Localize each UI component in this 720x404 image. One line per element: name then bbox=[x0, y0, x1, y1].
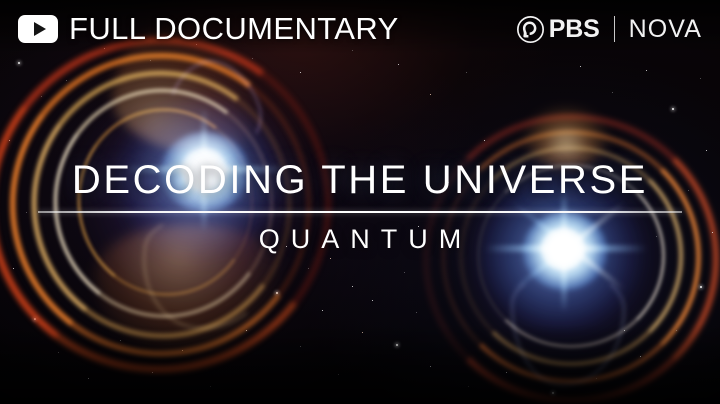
brand-divider bbox=[614, 16, 615, 42]
top-overlay-bar: FULL DOCUMENTARY PBS NOVA bbox=[0, 0, 720, 58]
nova-wordmark: NOVA bbox=[629, 17, 702, 42]
full-documentary-badge: FULL DOCUMENTARY bbox=[18, 11, 399, 47]
pbs-head-circle-icon bbox=[517, 16, 544, 43]
main-title: DECODING THE UNIVERSE bbox=[0, 160, 720, 200]
pbs-nova-brand-lockup: PBS NOVA bbox=[517, 16, 702, 43]
title-block: DECODING THE UNIVERSE QUANTUM bbox=[0, 160, 720, 253]
pbs-logo: PBS bbox=[517, 16, 600, 43]
pbs-wordmark: PBS bbox=[549, 17, 600, 42]
youtube-play-icon bbox=[18, 15, 58, 43]
title-divider-rule bbox=[38, 211, 682, 213]
video-thumbnail: FULL DOCUMENTARY PBS NOVA DECODING THE U… bbox=[0, 0, 720, 404]
full-documentary-label: FULL DOCUMENTARY bbox=[69, 11, 399, 47]
subtitle: QUANTUM bbox=[0, 226, 720, 253]
